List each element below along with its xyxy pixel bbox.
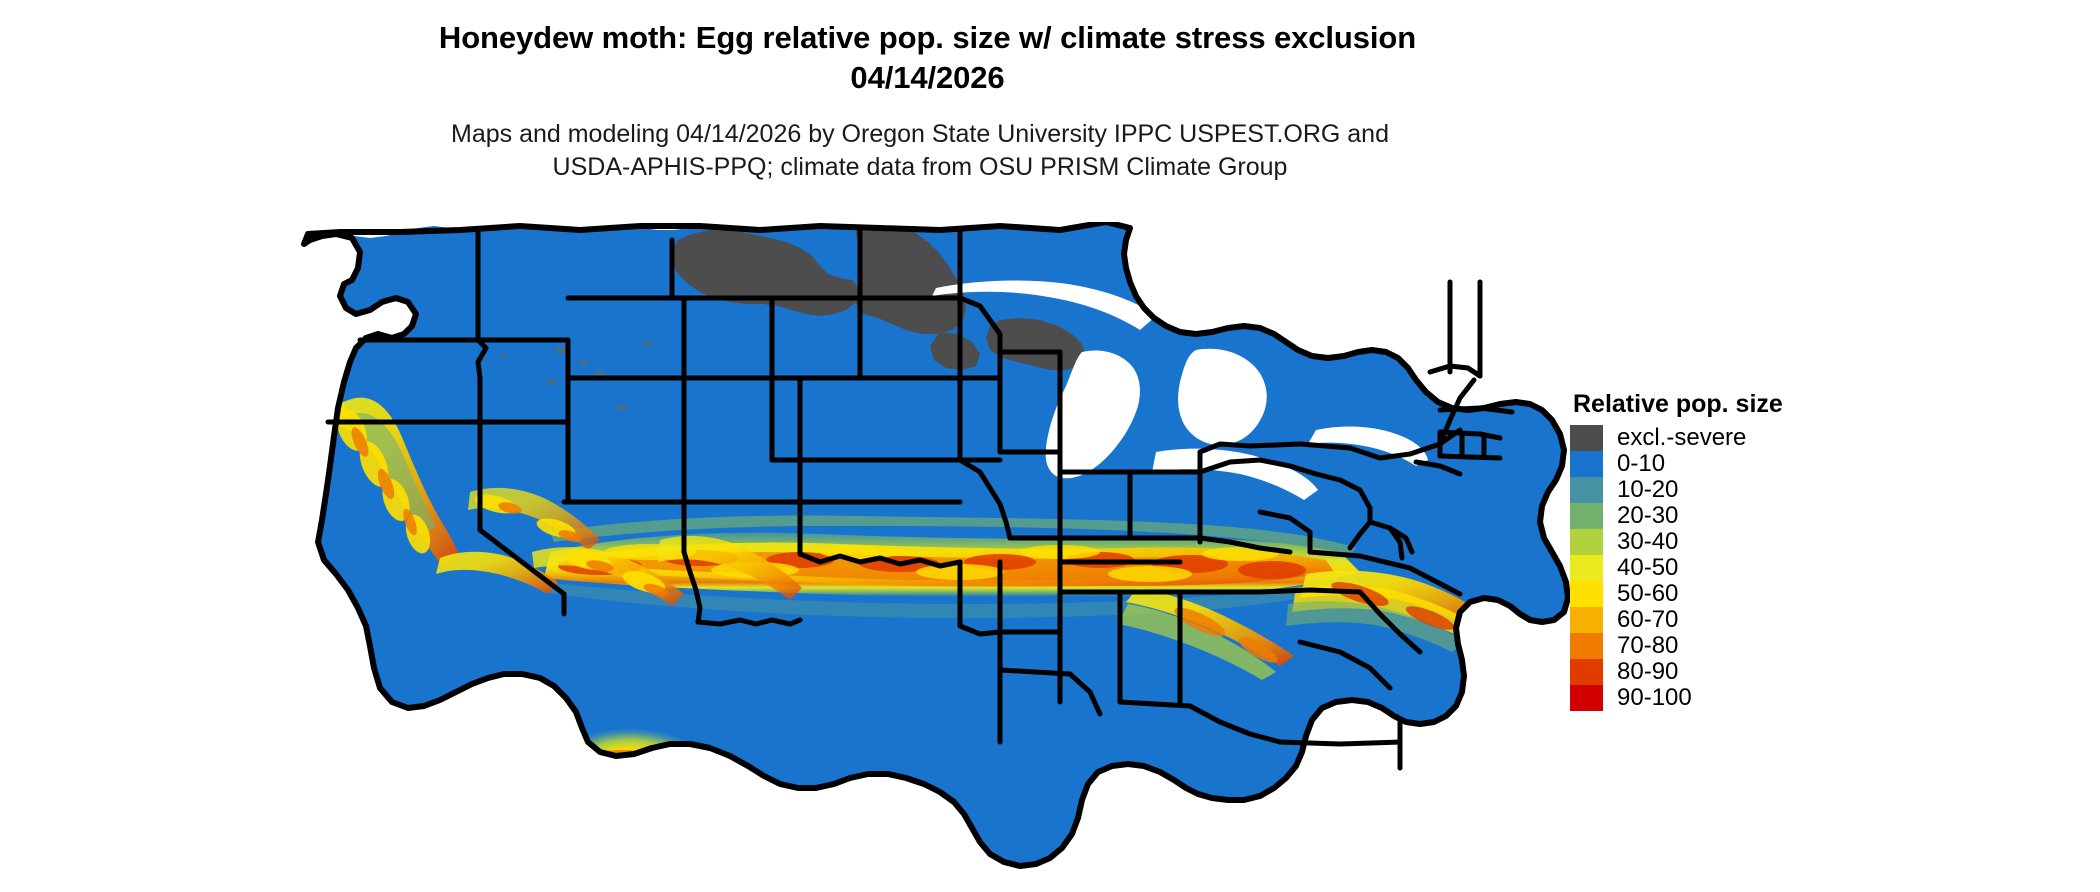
page-title: Honeydew moth: Egg relative pop. size w/…	[0, 18, 1855, 99]
legend-swatch-excl-severe	[1570, 425, 1603, 451]
legend-item: 10-20	[1570, 477, 1890, 503]
legend-item: 60-70	[1570, 607, 1890, 633]
legend-label: 40-50	[1617, 556, 1678, 580]
legend-swatch-80-90	[1570, 659, 1603, 685]
legend-item: 90-100	[1570, 685, 1890, 711]
legend-item: excl.-severe	[1570, 425, 1890, 451]
legend-swatch-30-40	[1570, 529, 1603, 555]
legend-label: 70-80	[1617, 634, 1678, 658]
subtitle-line2: USDA-APHIS-PPQ; climate data from OSU PR…	[0, 151, 1840, 184]
legend-swatch-90-100	[1570, 685, 1603, 711]
main-title: Honeydew moth: Egg relative pop. size w/…	[0, 18, 1855, 99]
legend-label: 80-90	[1617, 660, 1678, 684]
legend-label: 30-40	[1617, 530, 1678, 554]
legend-item: 20-30	[1570, 503, 1890, 529]
legend-swatch-40-50	[1570, 555, 1603, 581]
legend-item: 50-60	[1570, 581, 1890, 607]
legend-title: Relative pop. size	[1573, 390, 1890, 419]
subtitle: Maps and modeling 04/14/2026 by Oregon S…	[0, 118, 1840, 184]
legend-swatch-50-60	[1570, 581, 1603, 607]
map-svg	[300, 222, 1570, 882]
legend-label: 90-100	[1617, 686, 1692, 710]
subtitle-line1: Maps and modeling 04/14/2026 by Oregon S…	[451, 120, 1389, 148]
legend-item: 70-80	[1570, 633, 1890, 659]
map-page: Honeydew moth: Egg relative pop. size w/…	[0, 0, 2100, 892]
legend-label: 50-60	[1617, 582, 1678, 606]
legend-label: 60-70	[1617, 608, 1678, 632]
legend-label: 10-20	[1617, 478, 1678, 502]
legend-label: excl.-severe	[1617, 426, 1746, 450]
main-title-line1: Honeydew moth: Egg relative pop. size w/…	[439, 20, 1416, 55]
legend-swatch-10-20	[1570, 477, 1603, 503]
legend-swatch-20-30	[1570, 503, 1603, 529]
legend: Relative pop. size excl.-severe0-1010-20…	[1570, 390, 1890, 711]
legend-item: 30-40	[1570, 529, 1890, 555]
legend-item: 40-50	[1570, 555, 1890, 581]
legend-label: 20-30	[1617, 504, 1678, 528]
legend-label: 0-10	[1617, 452, 1665, 476]
legend-rows: excl.-severe0-1010-2020-3030-4040-5050-6…	[1570, 425, 1890, 711]
legend-swatch-70-80	[1570, 633, 1603, 659]
south-texas-hotspot	[552, 728, 708, 812]
legend-item: 80-90	[1570, 659, 1890, 685]
main-title-line2: 04/14/2026	[0, 58, 1855, 98]
legend-swatch-60-70	[1570, 607, 1603, 633]
legend-swatch-0-10	[1570, 451, 1603, 477]
us-choropleth-map	[300, 222, 1570, 882]
map-raster-layer	[300, 222, 1570, 882]
legend-item: 0-10	[1570, 451, 1890, 477]
south-florida-hotspot	[1424, 744, 1528, 836]
